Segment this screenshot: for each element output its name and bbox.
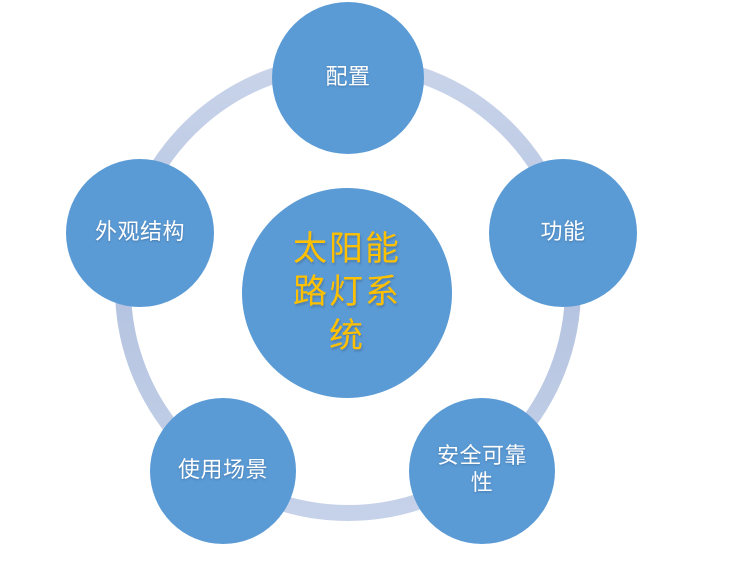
node-bottom-left[interactable]: 使用场景 [150, 398, 296, 544]
node-bottom-right-label: 安全可靠性 [420, 444, 544, 498]
node-hub[interactable]: 太阳能路灯系统 [242, 188, 452, 398]
node-bottom-left-label: 使用场景 [168, 458, 278, 485]
node-left-label: 外观结构 [85, 220, 195, 247]
node-bottom-right[interactable]: 安全可靠性 [409, 398, 555, 544]
node-left[interactable]: 外观结构 [66, 159, 214, 307]
node-top-label: 配置 [315, 65, 380, 92]
radial-diagram-canvas: 配置 功能 安全可靠性 使用场景 外观结构 太阳能路灯系统 [0, 0, 748, 565]
node-right-label: 功能 [530, 220, 595, 247]
node-right[interactable]: 功能 [489, 159, 637, 307]
node-hub-label: 太阳能路灯系统 [267, 228, 427, 359]
node-top[interactable]: 配置 [272, 2, 424, 154]
